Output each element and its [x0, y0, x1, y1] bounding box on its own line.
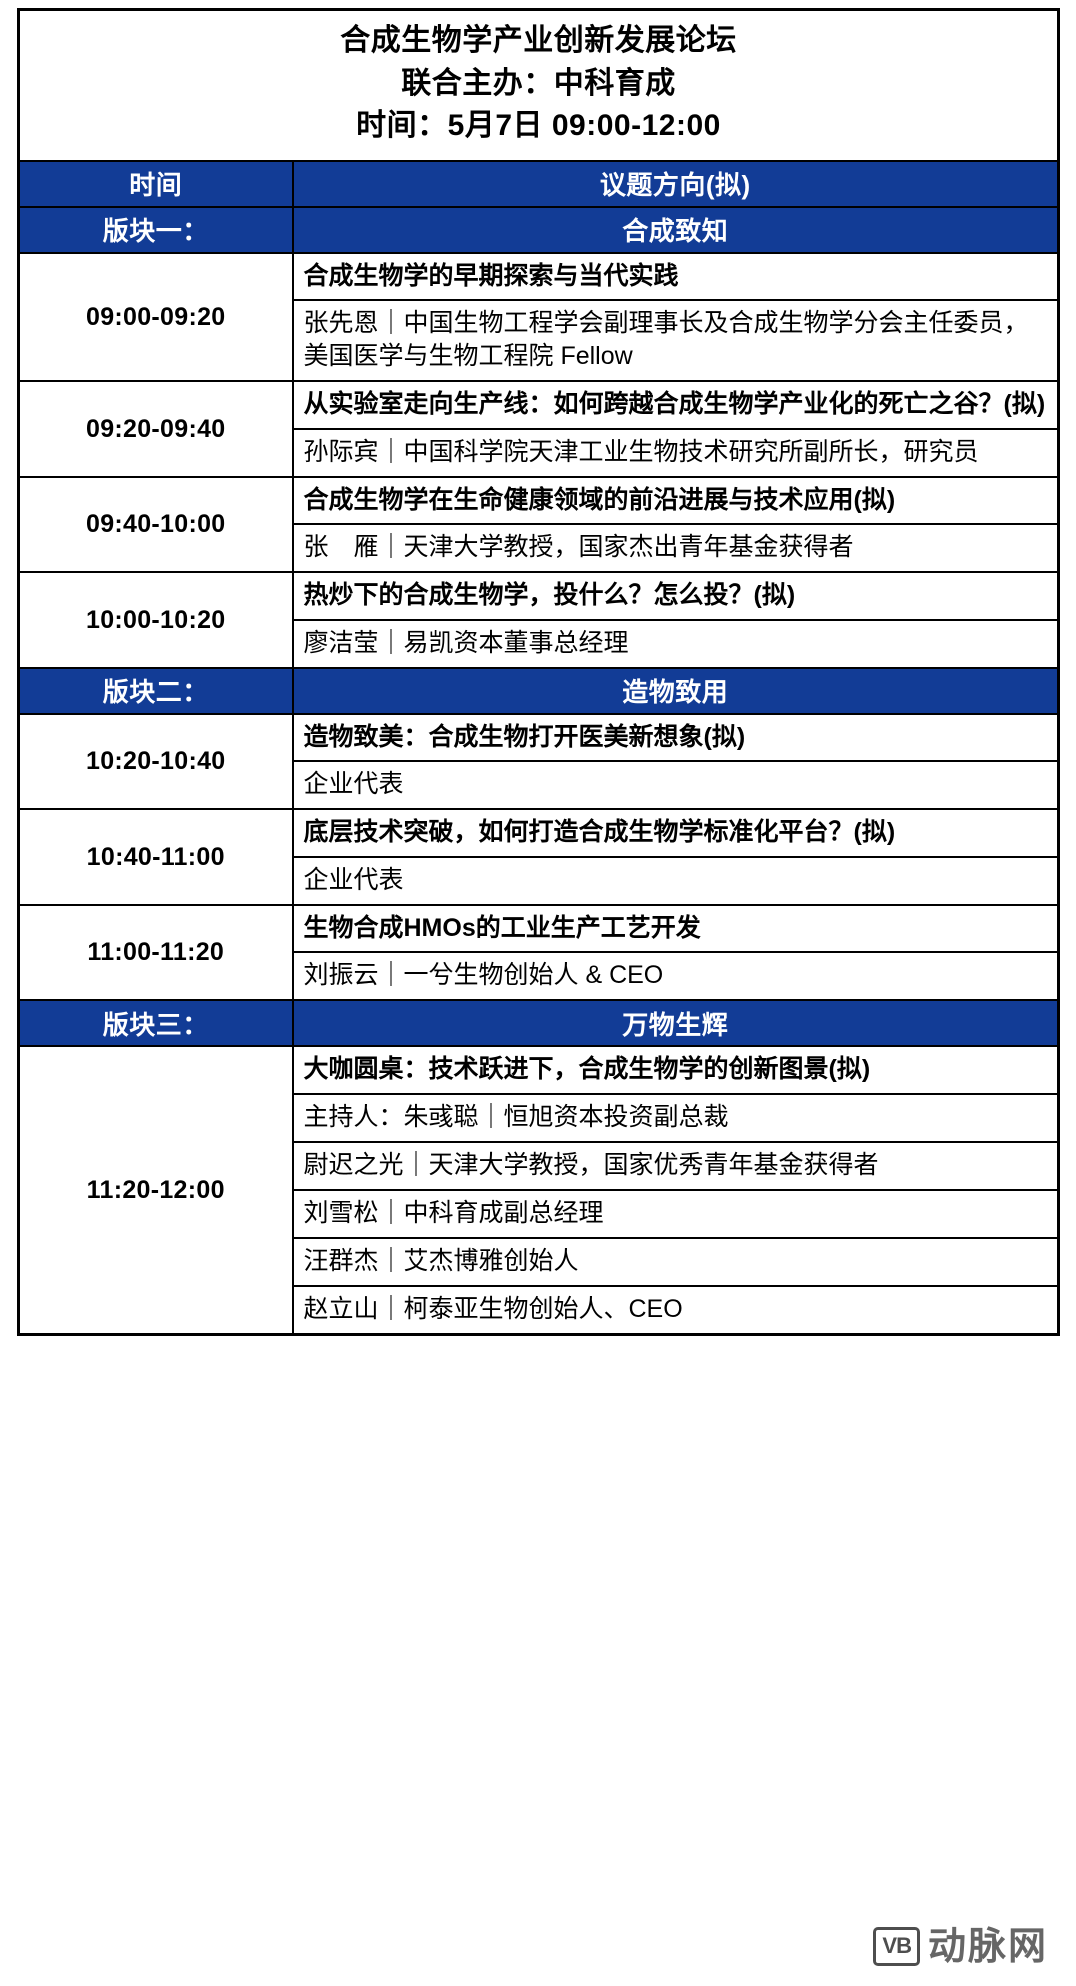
session-time: 11:20-12:00 — [19, 1046, 293, 1334]
session-speaker: 孙际宾｜中国科学院天津工业生物技术研究所副所长，研究员 — [294, 429, 1058, 476]
agenda-table-container: 合成生物学产业创新发展论坛联合主办：中科育成时间：5月7日 09:00-12:0… — [17, 8, 1057, 1336]
session-row: 10:00-10:20热炒下的合成生物学，投什么？怎么投？(拟)廖洁莹｜易凯资本… — [19, 572, 1059, 668]
session-topic-cell: 合成生物学的早期探索与当代实践张先恩｜中国生物工程学会副理事长及合成生物学分会主… — [293, 253, 1059, 382]
session-time: 09:20-09:40 — [19, 381, 293, 477]
column-header-time: 时间 — [19, 161, 293, 207]
watermark: VB 动脉网 — [873, 1927, 1048, 1966]
session-row: 11:20-12:00大咖圆桌：技术跃进下，合成生物学的创新图景(拟)主持人：朱… — [19, 1046, 1059, 1334]
session-speaker: 赵立山｜柯泰亚生物创始人、CEO — [294, 1286, 1058, 1333]
title-row: 合成生物学产业创新发展论坛联合主办：中科育成时间：5月7日 09:00-12:0… — [19, 10, 1059, 161]
session-speaker: 尉迟之光｜天津大学教授，国家优秀青年基金获得者 — [294, 1142, 1058, 1190]
section-label: 版块一： — [19, 207, 293, 253]
section-band-row: 版块一：合成致知 — [19, 207, 1059, 253]
session-title: 底层技术突破，如何打造合成生物学标准化平台？(拟) — [294, 810, 1058, 857]
session-topic-cell: 合成生物学在生命健康领域的前沿进展与技术应用(拟)张 雁｜天津大学教授，国家杰出… — [293, 477, 1059, 573]
session-speaker: 廖洁莹｜易凯资本董事总经理 — [294, 620, 1058, 667]
session-time: 10:40-11:00 — [19, 809, 293, 905]
session-row: 09:20-09:40从实验室走向生产线：如何跨越合成生物学产业化的死亡之谷？(… — [19, 381, 1059, 477]
session-title: 大咖圆桌：技术跃进下，合成生物学的创新图景(拟) — [294, 1047, 1058, 1094]
session-title: 合成生物学的早期探索与当代实践 — [294, 254, 1058, 301]
session-topic-cell: 大咖圆桌：技术跃进下，合成生物学的创新图景(拟)主持人：朱彧聪｜恒旭资本投资副总… — [293, 1046, 1059, 1334]
forum-title-line: 合成生物学产业创新发展论坛 — [26, 20, 1051, 63]
section-label: 版块二： — [19, 668, 293, 714]
section-name: 合成致知 — [293, 207, 1059, 253]
session-speaker: 张先恩｜中国生物工程学会副理事长及合成生物学分会主任委员，美国医学与生物工程院 … — [294, 300, 1058, 380]
session-row: 10:40-11:00底层技术突破，如何打造合成生物学标准化平台？(拟)企业代表 — [19, 809, 1059, 905]
session-time: 09:40-10:00 — [19, 477, 293, 573]
forum-title-line: 时间：5月7日 09:00-12:00 — [26, 105, 1051, 148]
watermark-badge-icon: VB — [873, 1927, 920, 1966]
session-time: 11:00-11:20 — [19, 905, 293, 1001]
session-title: 造物致美：合成生物打开医美新想象(拟) — [294, 715, 1058, 762]
section-name: 造物致用 — [293, 668, 1059, 714]
forum-title-line: 联合主办：中科育成 — [26, 63, 1051, 106]
agenda-table: 合成生物学产业创新发展论坛联合主办：中科育成时间：5月7日 09:00-12:0… — [17, 8, 1060, 1336]
session-topic-cell: 热炒下的合成生物学，投什么？怎么投？(拟)廖洁莹｜易凯资本董事总经理 — [293, 572, 1059, 668]
section-name: 万物生辉 — [293, 1000, 1059, 1046]
session-time: 09:00-09:20 — [19, 253, 293, 382]
session-time: 10:20-10:40 — [19, 714, 293, 810]
session-speaker: 汪群杰｜艾杰博雅创始人 — [294, 1238, 1058, 1286]
session-speaker: 张 雁｜天津大学教授，国家杰出青年基金获得者 — [294, 524, 1058, 571]
session-title: 生物合成HMOs的工业生产工艺开发 — [294, 906, 1058, 953]
session-topic-cell: 从实验室走向生产线：如何跨越合成生物学产业化的死亡之谷？(拟)孙际宾｜中国科学院… — [293, 381, 1059, 477]
session-speaker: 主持人：朱彧聪｜恒旭资本投资副总裁 — [294, 1094, 1058, 1142]
session-row: 09:00-09:20合成生物学的早期探索与当代实践张先恩｜中国生物工程学会副理… — [19, 253, 1059, 382]
session-row: 09:40-10:00合成生物学在生命健康领域的前沿进展与技术应用(拟)张 雁｜… — [19, 477, 1059, 573]
session-title: 从实验室走向生产线：如何跨越合成生物学产业化的死亡之谷？(拟) — [294, 382, 1058, 429]
session-speaker: 企业代表 — [294, 857, 1058, 904]
session-speaker: 企业代表 — [294, 761, 1058, 808]
column-header-row: 时间议题方向(拟) — [19, 161, 1059, 207]
watermark-text: 动脉网 — [928, 1928, 1048, 1966]
column-header-topic: 议题方向(拟) — [293, 161, 1059, 207]
section-label: 版块三： — [19, 1000, 293, 1046]
section-band-row: 版块二：造物致用 — [19, 668, 1059, 714]
forum-title-block: 合成生物学产业创新发展论坛联合主办：中科育成时间：5月7日 09:00-12:0… — [19, 10, 1059, 161]
section-band-row: 版块三：万物生辉 — [19, 1000, 1059, 1046]
session-speaker: 刘雪松｜中科育成副总经理 — [294, 1190, 1058, 1238]
session-topic-cell: 底层技术突破，如何打造合成生物学标准化平台？(拟)企业代表 — [293, 809, 1059, 905]
session-topic-cell: 造物致美：合成生物打开医美新想象(拟)企业代表 — [293, 714, 1059, 810]
session-time: 10:00-10:20 — [19, 572, 293, 668]
session-topic-cell: 生物合成HMOs的工业生产工艺开发刘振云｜一兮生物创始人 & CEO — [293, 905, 1059, 1001]
session-title: 热炒下的合成生物学，投什么？怎么投？(拟) — [294, 573, 1058, 620]
session-row: 11:00-11:20生物合成HMOs的工业生产工艺开发刘振云｜一兮生物创始人 … — [19, 905, 1059, 1001]
session-title: 合成生物学在生命健康领域的前沿进展与技术应用(拟) — [294, 478, 1058, 525]
session-row: 10:20-10:40造物致美：合成生物打开医美新想象(拟)企业代表 — [19, 714, 1059, 810]
session-speaker: 刘振云｜一兮生物创始人 & CEO — [294, 952, 1058, 999]
